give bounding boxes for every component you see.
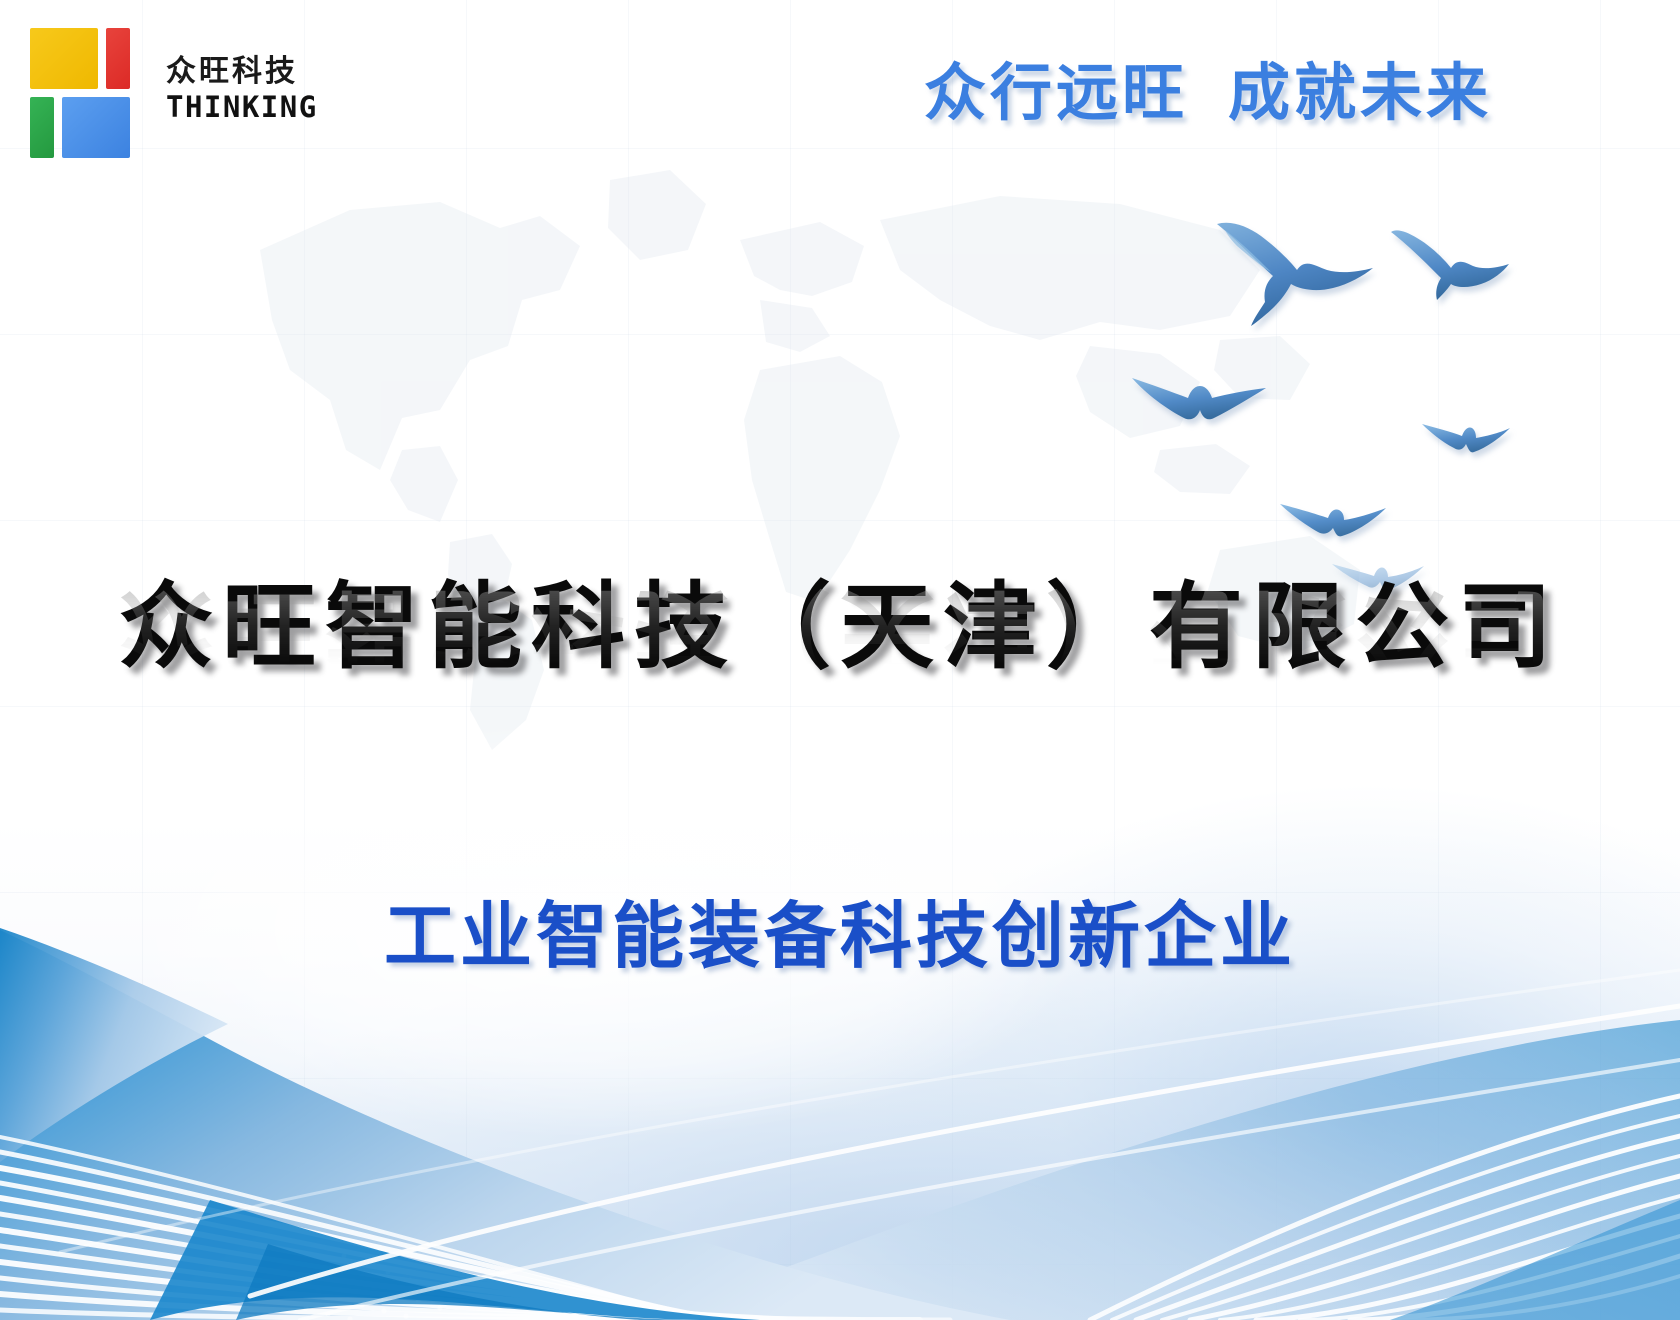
title-slide: 众旺科技 THINKING 众行远旺成就未来 — [0, 0, 1680, 1320]
tagline-part-1: 众行远旺 — [924, 56, 1188, 129]
four-color-blocks-logo-icon — [30, 28, 144, 150]
slide-header: 众旺科技 THINKING 众行远旺成就未来 — [0, 0, 1680, 185]
logo-block-green — [30, 97, 54, 158]
logo-wordmark: 众旺科技 THINKING — [166, 57, 318, 122]
logo-block-red — [106, 28, 130, 89]
page-subtitle: 工业智能装备科技创新企业 — [0, 900, 1680, 972]
seagull-icon — [1128, 368, 1268, 448]
tagline-part-2: 成就未来 — [1228, 56, 1492, 129]
logo-company-name-en: THINKING — [166, 93, 318, 122]
header-tagline: 众行远旺成就未来 — [924, 62, 1492, 124]
company-logo: 众旺科技 THINKING — [30, 28, 318, 150]
seagull-icon — [1278, 498, 1388, 550]
logo-block-yellow — [30, 28, 98, 89]
title-group: 众旺智能科技（天津）有限公司 众旺智能科技（天津）有限公司 — [0, 575, 1680, 790]
background-haze-left — [0, 766, 1680, 1320]
page-title-reflection: 众旺智能科技（天津）有限公司 — [0, 579, 1680, 684]
logo-block-blue — [62, 97, 130, 158]
seagull-icon — [1383, 228, 1511, 316]
seagull-icon — [1420, 418, 1512, 464]
seagull-icon — [1205, 218, 1380, 333]
logo-company-name-cn: 众旺科技 — [166, 57, 318, 87]
